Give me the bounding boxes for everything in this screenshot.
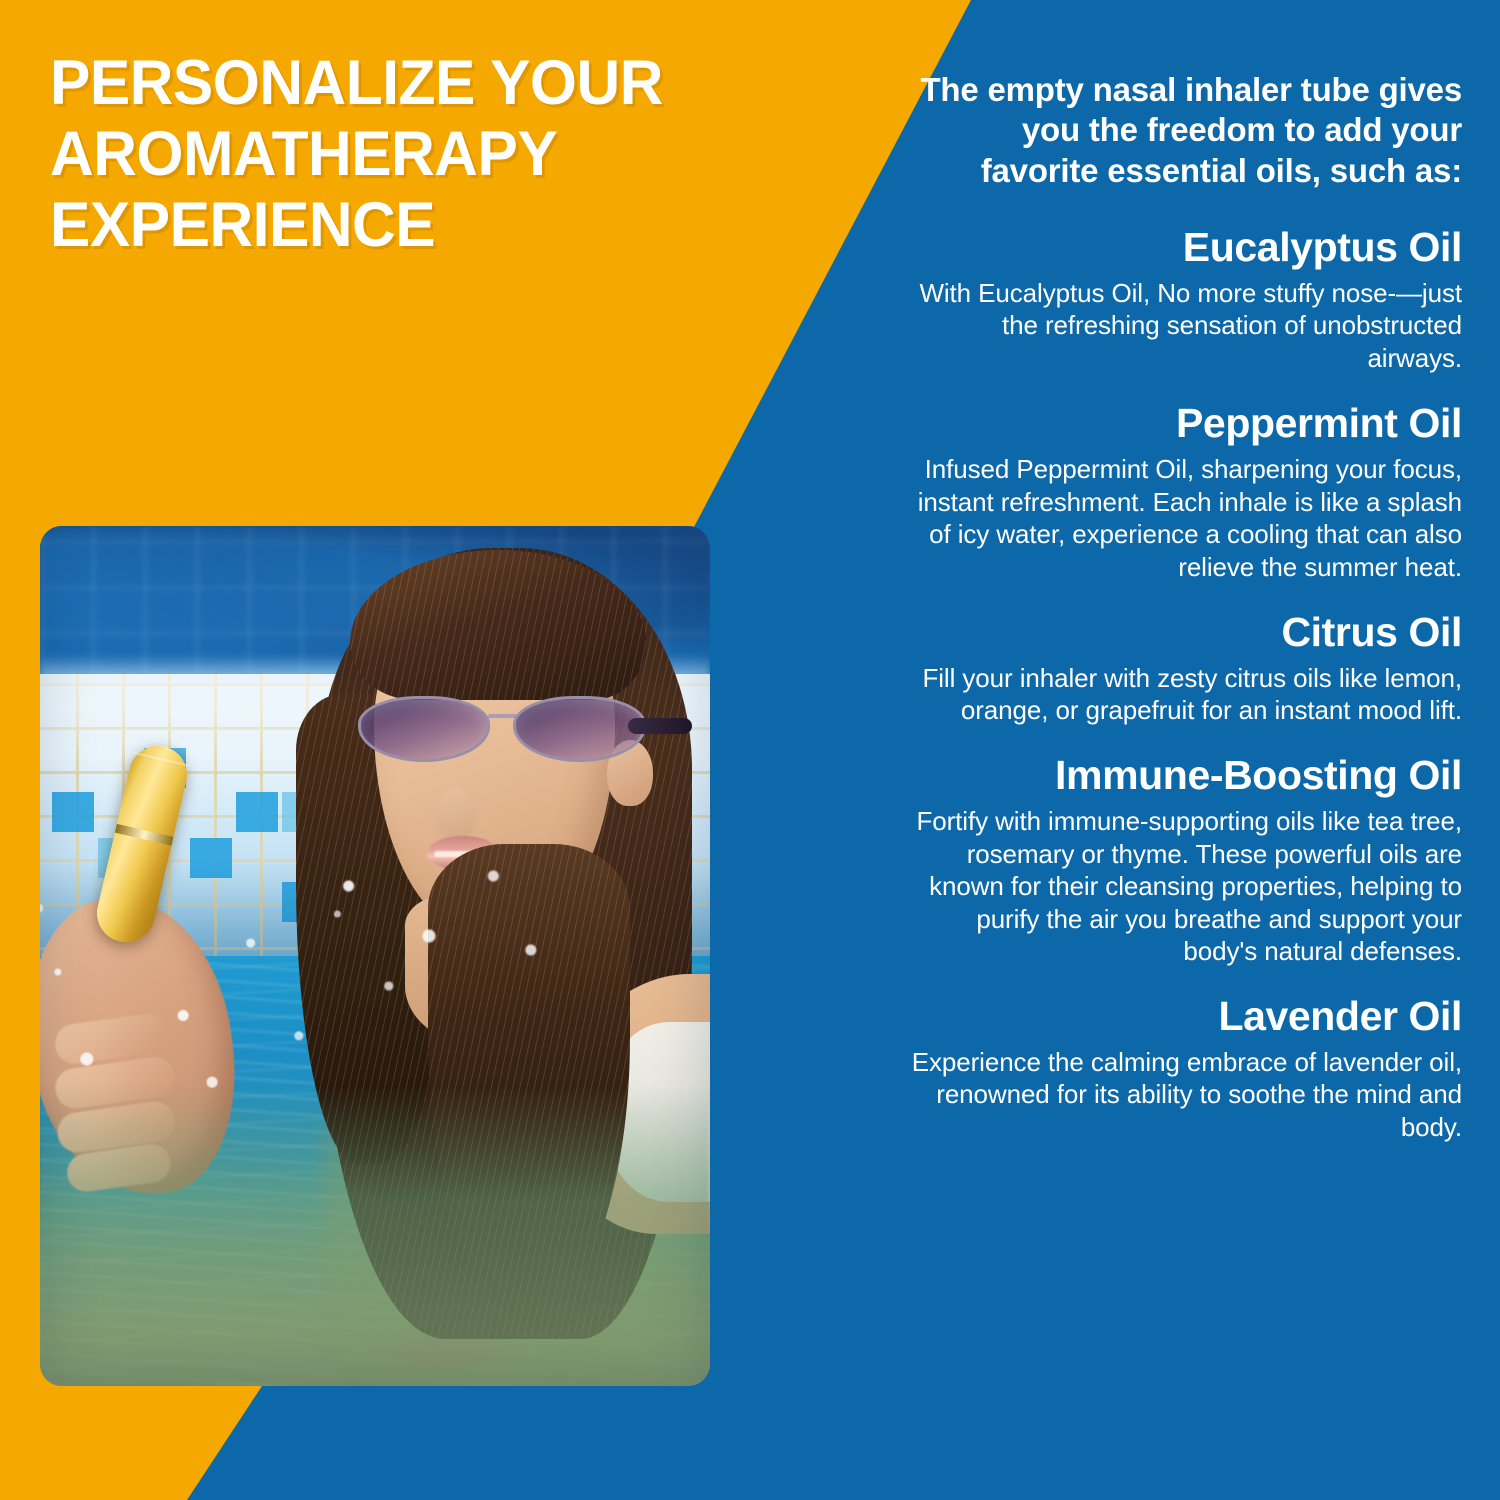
oils-content-column: The empty nasal inhaler tube gives you t…	[902, 70, 1462, 1170]
oil-title: Immune-Boosting Oil	[902, 753, 1462, 799]
oil-section-lavender: Lavender Oil Experience the calming embr…	[902, 994, 1462, 1144]
intro-paragraph: The empty nasal inhaler tube gives you t…	[902, 70, 1462, 191]
lifestyle-photo	[40, 526, 710, 1386]
sunglass-lens-right	[513, 696, 645, 762]
sunglasses-icon	[358, 692, 646, 766]
water-surface-overlay	[40, 1086, 710, 1386]
product-infographic: PERSONALIZE YOUR AROMATHERAPY EXPERIENCE	[0, 0, 1500, 1500]
oil-section-immune-boosting: Immune-Boosting Oil Fortify with immune-…	[902, 753, 1462, 967]
oil-description: Fill your inhaler with zesty citrus oils…	[902, 662, 1462, 728]
oil-section-peppermint: Peppermint Oil Infused Peppermint Oil, s…	[902, 401, 1462, 584]
oil-title: Peppermint Oil	[902, 401, 1462, 447]
photo-stage	[40, 526, 710, 1386]
hair-top	[350, 550, 645, 700]
sunglass-temple	[628, 718, 691, 734]
oil-section-citrus: Citrus Oil Fill your inhaler with zesty …	[902, 610, 1462, 727]
oil-description: Infused Peppermint Oil, sharpening your …	[902, 453, 1462, 584]
water-splash-center	[295, 826, 563, 1026]
oil-title: Lavender Oil	[902, 994, 1462, 1040]
oil-description: Fortify with immune-supporting oils like…	[902, 805, 1462, 968]
oil-section-eucalyptus: Eucalyptus Oil With Eucalyptus Oil, No m…	[902, 225, 1462, 375]
sunglass-lens-left	[358, 696, 490, 762]
oil-title: Eucalyptus Oil	[902, 225, 1462, 271]
oil-title: Citrus Oil	[902, 610, 1462, 656]
hair-texture	[350, 550, 645, 700]
inhaler-band	[115, 824, 174, 846]
page-title: PERSONALIZE YOUR AROMATHERAPY EXPERIENCE	[50, 48, 856, 262]
oil-description: Experience the calming embrace of lavend…	[902, 1046, 1462, 1144]
oil-description: With Eucalyptus Oil, No more stuffy nose…	[902, 277, 1462, 375]
